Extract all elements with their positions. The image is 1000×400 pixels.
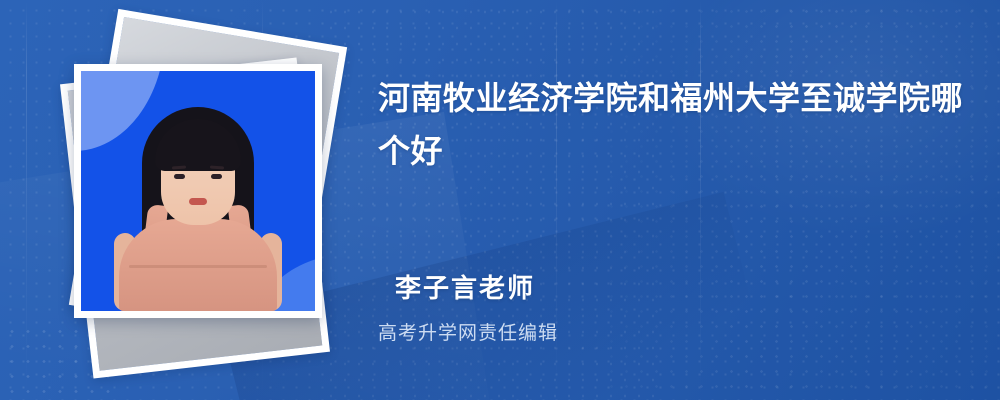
article-header-banner: 河南牧业经济学院和福州大学至诚学院哪个好 李子言老师 高考升学网责任编辑	[0, 0, 1000, 400]
text-column: 河南牧业经济学院和福州大学至诚学院哪个好 李子言老师 高考升学网责任编辑	[378, 0, 970, 400]
teacher-photo-card	[74, 64, 322, 318]
article-headline: 河南牧业经济学院和福州大学至诚学院哪个好	[378, 72, 970, 178]
teacher-photo	[81, 71, 315, 311]
author-role: 高考升学网责任编辑	[378, 318, 558, 345]
portrait-eye-right	[211, 174, 222, 179]
background-hairline-1	[26, 0, 27, 400]
portrait-dress	[119, 219, 277, 311]
author-block: 李子言老师 高考升学网责任编辑	[378, 268, 558, 345]
photo-stack	[52, 24, 352, 374]
portrait-illustration	[81, 71, 315, 311]
portrait-lips	[189, 198, 207, 205]
author-name: 李子言老师	[395, 268, 558, 305]
portrait-eye-left	[174, 174, 185, 179]
